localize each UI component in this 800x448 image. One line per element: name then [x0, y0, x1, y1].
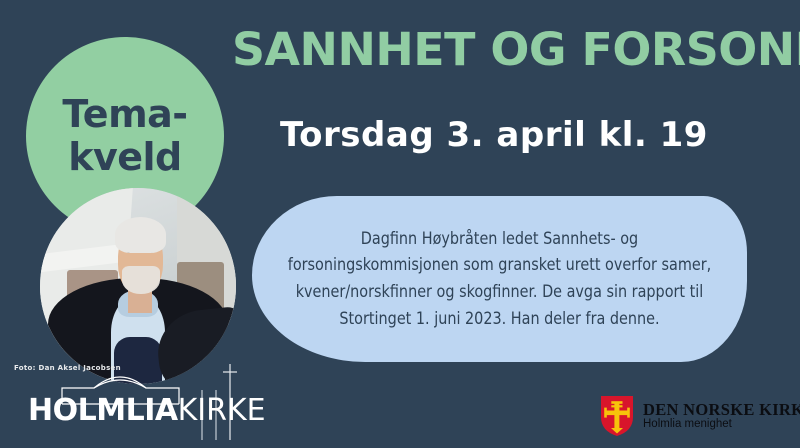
logo-word-holmlia: HOLMLIA	[28, 393, 178, 428]
den-norske-kirke-logo: DEN NORSKE KIRKE Holmlia menighet	[600, 392, 790, 440]
den-norske-kirke-text: DEN NORSKE KIRKE Holmlia menighet	[643, 402, 800, 431]
page-title: SANNHET OG FORSONING	[232, 27, 783, 72]
norwegian-church-shield-icon	[600, 395, 634, 437]
holmlia-kirke-wordmark: HOLMLIAKIRKE	[28, 396, 266, 426]
tema-kveld-label: Tema- kveld	[62, 93, 187, 178]
photo-credit: Foto: Dan Aksel Jacobsen	[14, 364, 121, 372]
description-text: Dagfinn Høybråten ledet Sannhets- og for…	[279, 226, 720, 333]
speaker-portrait	[40, 188, 236, 384]
portrait-hair	[115, 217, 166, 252]
logo-word-kirke: KIRKE	[178, 393, 266, 428]
event-datetime: Torsdag 3. april kl. 19	[280, 118, 720, 152]
event-poster: Tema- kveld SANNHET OG FORSONING Torsdag…	[0, 0, 800, 448]
dnk-parish: Holmlia menighet	[643, 419, 800, 431]
dnk-title: DEN NORSKE KIRKE	[643, 402, 800, 419]
description-panel: Dagfinn Høybråten ledet Sannhets- og for…	[252, 196, 747, 362]
holmlia-kirke-logo: HOLMLIAKIRKE	[24, 360, 274, 440]
portrait-beard	[122, 266, 159, 293]
